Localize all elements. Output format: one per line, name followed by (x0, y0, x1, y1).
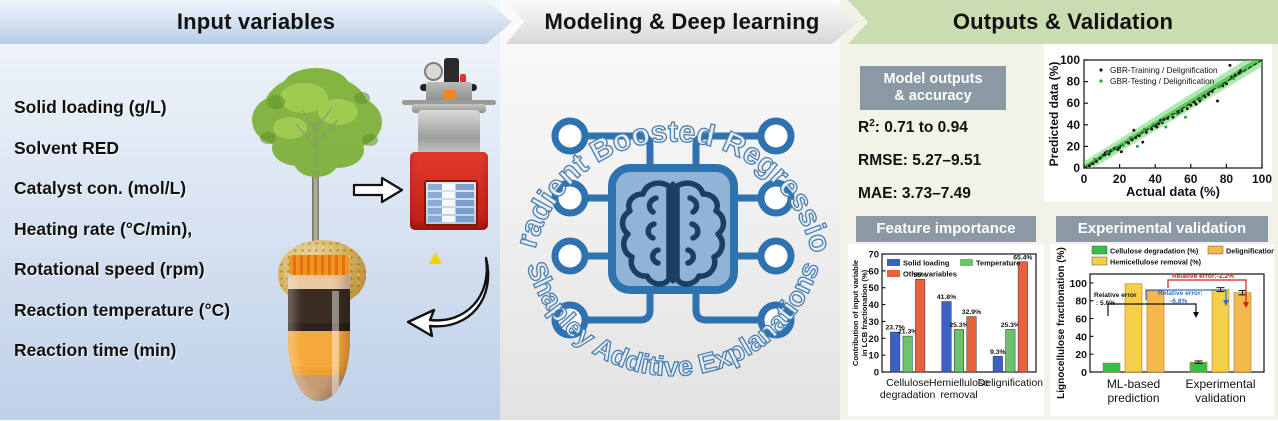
fi-bar (993, 356, 1003, 372)
svg-text:80: 80 (1067, 75, 1081, 89)
svg-text:degradation: degradation (880, 389, 936, 401)
reactor-base (410, 152, 488, 230)
scatter-legend-label: GBR-Training / Delignification (1110, 66, 1218, 75)
svg-text:0: 0 (1081, 367, 1087, 379)
tube-highlight (332, 291, 339, 401)
model-outputs-title: Model outputs & accuracy (860, 66, 1006, 110)
fi-bar-label: 32.9% (962, 309, 981, 316)
fi-ylabel-line2: in LCB fractionation (%) (860, 269, 869, 356)
svg-text:0: 0 (1081, 172, 1088, 186)
model-outputs-metrics: R2: 0.71 to 0.94RMSE: 5.27–9.51MAE: 3.73… (858, 118, 1038, 218)
model-outputs-title-line2: & accuracy (883, 88, 982, 105)
ai-model-graphic: Gradient Boosted Regression Shapley Addi… (508, 58, 838, 403)
svg-text:80: 80 (1220, 172, 1234, 186)
fi-ylabel-line1: Contribution of input variable (851, 260, 860, 366)
svg-text:40: 40 (868, 300, 879, 311)
svg-text:50: 50 (868, 283, 879, 294)
fi-bar (903, 336, 913, 372)
fi-legend-label: Other variables (903, 270, 957, 279)
scatter-plot-svg: 020406080100020406080100Actual data (%)P… (1044, 44, 1272, 202)
feature-importance-svg: 01020304050607023.7%21.3%55%41.8%25.3%32… (848, 244, 1044, 416)
svg-text:30: 30 (868, 317, 879, 328)
model-metric: R2: 0.71 to 0.94 (858, 118, 1038, 137)
svg-text:removal: removal (940, 389, 977, 401)
sample-tube (288, 255, 350, 415)
feature-importance-chart: 01020304050607023.7%21.3%55%41.8%25.3%32… (848, 244, 1044, 416)
scatter-ylabel: Predicted data (%) (1047, 62, 1061, 167)
header-input-variables: Input variables (0, 0, 512, 44)
fi-legend-label: Temperature (976, 259, 1020, 268)
fi-bar-label: 9.3% (990, 349, 1006, 356)
ev-category-label: ML-based (1107, 377, 1160, 391)
fi-bar-label: 25.3% (1001, 322, 1020, 329)
svg-text:100: 100 (1069, 278, 1087, 290)
svg-text:: 5.6%: : 5.6% (1096, 300, 1115, 307)
ev-legend-label: Cellulose degradation (%) (1110, 247, 1199, 256)
svg-text:100: 100 (1252, 172, 1272, 186)
fi-bar (915, 279, 925, 372)
fi-category-label: Cellulose (886, 377, 929, 389)
header-modeling-label: Modeling & Deep learning (506, 9, 858, 35)
reactor-illustration (404, 56, 494, 236)
scatter-legend-label: GBR-Testing / Delignification (1110, 77, 1215, 86)
ev-legend-label: Hemicellulose removal (%) (1110, 258, 1202, 267)
experimental-validation-title: Experimental validation (1056, 216, 1268, 242)
feature-importance-title: Feature importance (856, 216, 1036, 242)
scatter-xlabel: Actual data (%) (1126, 184, 1220, 199)
fi-bar (1006, 329, 1016, 372)
model-metric-value: : 0.71 to 0.94 (875, 119, 968, 136)
svg-text:prediction: prediction (1107, 391, 1159, 405)
svg-text:60: 60 (868, 266, 879, 277)
svg-text:20: 20 (1113, 172, 1127, 186)
input-variable-item: Reaction temperature (°C) (14, 300, 314, 321)
fi-bar (890, 332, 900, 372)
ev-bar (1147, 291, 1164, 372)
svg-text:100: 100 (1060, 53, 1080, 67)
fi-bar (942, 302, 952, 372)
fi-bar-label: 21.3% (898, 329, 917, 336)
svg-text:60: 60 (1075, 314, 1087, 326)
fi-bar-label: 25.3% (949, 322, 968, 329)
svg-text:40: 40 (1067, 118, 1081, 132)
fi-bar (967, 317, 977, 372)
reactor-control-screen (424, 180, 478, 226)
fi-bar-label: 41.8% (937, 294, 956, 301)
model-metric-value: : 5.27–9.51 (903, 152, 981, 169)
model-metric: MAE: 3.73–7.49 (858, 185, 1038, 203)
header-outputs-label: Outputs & Validation (848, 9, 1278, 35)
header-modeling: Modeling & Deep learning (506, 0, 858, 44)
svg-text:0: 0 (874, 368, 879, 379)
arrow-right-icon (352, 175, 404, 205)
ev-bar (1234, 293, 1251, 372)
model-metric: RMSE: 5.27–9.51 (858, 152, 1038, 170)
svg-text:-6.8%: -6.8% (1170, 298, 1187, 305)
scatter-plot-parity: 020406080100020406080100Actual data (%)P… (1044, 44, 1272, 202)
pressure-gauge-icon (424, 62, 443, 81)
ev-annotation-1: Relative error (1094, 292, 1137, 299)
tube-cap (289, 255, 349, 275)
svg-text:20: 20 (1075, 349, 1087, 361)
ev-bar (1103, 363, 1120, 372)
header-input-label: Input variables (0, 9, 512, 35)
tube-body (288, 271, 350, 401)
tree-illustration (238, 62, 398, 267)
experimental-validation-svg: Cellulose degradation (%)Hemicellulose r… (1050, 244, 1274, 416)
svg-text:10: 10 (868, 351, 879, 362)
svg-text:0: 0 (1073, 161, 1080, 175)
graphical-abstract: Input variables Modeling & Deep learning… (0, 0, 1278, 420)
model-outputs-title-line1: Model outputs (883, 71, 982, 88)
svg-text:20: 20 (868, 334, 879, 345)
fi-bar (1018, 262, 1028, 372)
svg-text:60: 60 (1067, 96, 1081, 110)
ev-annotation-2: Relative error: (1158, 290, 1203, 297)
reactor-vessel (418, 110, 480, 156)
svg-text:40: 40 (1075, 331, 1087, 343)
experimental-validation-chart: Cellulose degradation (%)Hemicellulose r… (1050, 244, 1274, 416)
arrow-curved-icon (400, 248, 492, 340)
ev-category-label: Experimental (1185, 377, 1255, 391)
fi-legend-label: Solid loading (903, 259, 950, 268)
svg-text:validation: validation (1195, 391, 1246, 405)
tree-canopy-icon (238, 62, 398, 192)
header-outputs: Outputs & Validation (848, 0, 1278, 44)
model-metric-value: : 3.73–7.49 (892, 185, 970, 202)
input-variable-item: Reaction time (min) (14, 340, 314, 361)
ev-ylabel: Lignocellulose fractionation (%) (1056, 247, 1067, 399)
ev-annotation-3: Relative error:-2.2% (1172, 273, 1234, 280)
fi-category-label: Delignification (978, 377, 1044, 389)
ev-legend-label: Delignification (%) (1226, 247, 1274, 256)
fi-bar (954, 329, 964, 372)
svg-text:80: 80 (1075, 296, 1087, 308)
svg-text:70: 70 (868, 250, 879, 261)
svg-text:20: 20 (1067, 139, 1081, 153)
reactor-orange-part (444, 90, 456, 100)
